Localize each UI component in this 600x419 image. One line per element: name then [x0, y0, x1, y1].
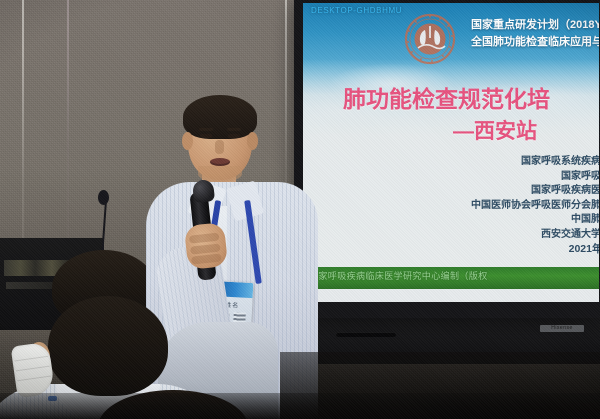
desktop-watermark-label: DESKTOP-GHDBHMU — [311, 6, 402, 15]
presenter-eye-right — [228, 134, 240, 138]
mask-pleat-1 — [14, 356, 48, 362]
presenter-mouth — [210, 158, 230, 166]
mask-pleat-3 — [17, 376, 51, 382]
display-brand-logo: Hisense — [540, 325, 584, 332]
slide-title-main: 肺功能检查规范化培 — [343, 85, 599, 113]
slide-bottom-strip — [303, 289, 599, 303]
slide-header-line-1: 国家重点研发计划（2018YFC — [471, 17, 599, 34]
conference-photo-scene: DESKTOP-GHDBHMU — [0, 0, 600, 419]
slide-footer-band: 国家呼吸疾病临床医学研究中心编制（版权 — [303, 267, 599, 289]
stand-vent-slot — [336, 332, 396, 337]
floor-shadow — [0, 393, 600, 419]
slide-organizer-list: 国家呼吸系统疾病临床医学 国家呼吸医学中心 国家呼吸疾病医疗质量控 中国医师协会… — [303, 155, 599, 257]
slide-title-subtitle: —西安站 — [453, 115, 599, 145]
mask-pleat-2 — [16, 366, 50, 372]
organizer-line-1: 国家呼吸系统疾病临床医学 — [345, 155, 599, 170]
presenter-finger-1 — [189, 233, 220, 244]
organizer-line-3: 国家呼吸疾病医疗质量控 — [345, 184, 599, 199]
slide-header-line-2: 全国肺功能检查临床应用与规 — [471, 34, 599, 51]
display-chin — [294, 302, 600, 318]
presenter-finger-3 — [191, 253, 222, 264]
presenter-ear-left — [182, 132, 193, 150]
presenter-eye-left — [200, 134, 212, 138]
organizer-line-5: 中国肺功能联盟 — [345, 213, 599, 228]
organizer-line-4: 中国医师协会呼吸医师分会肺功能与临 — [345, 199, 599, 214]
presenter-hair — [183, 95, 257, 139]
audience-head — [48, 296, 168, 396]
slide-footer-band-text: 国家呼吸疾病临床医学研究中心编制（版权 — [309, 269, 597, 282]
presenter-ear-right — [247, 132, 258, 150]
display-screen[interactable]: DESKTOP-GHDBHMU — [303, 3, 599, 303]
presenter-nose — [215, 140, 224, 154]
slide-venue-line: 西安交通大学第二附属 — [345, 228, 599, 243]
organizer-line-2: 国家呼吸医学中心 — [345, 170, 599, 185]
wall-display[interactable]: DESKTOP-GHDBHMU — [294, 0, 600, 318]
presenter-eyebrow-right — [227, 128, 241, 131]
slide-header: 国家重点研发计划（2018YFC 全国肺功能检查临床应用与规 — [471, 17, 599, 51]
desk-microphone-capsule-icon — [98, 190, 109, 205]
presenter-hand — [184, 222, 228, 270]
slide-date-line: 2021年5月22日 — [345, 242, 599, 257]
presenter-eyebrow-left — [199, 128, 213, 131]
national-respiratory-center-lung-emblem — [404, 13, 456, 65]
